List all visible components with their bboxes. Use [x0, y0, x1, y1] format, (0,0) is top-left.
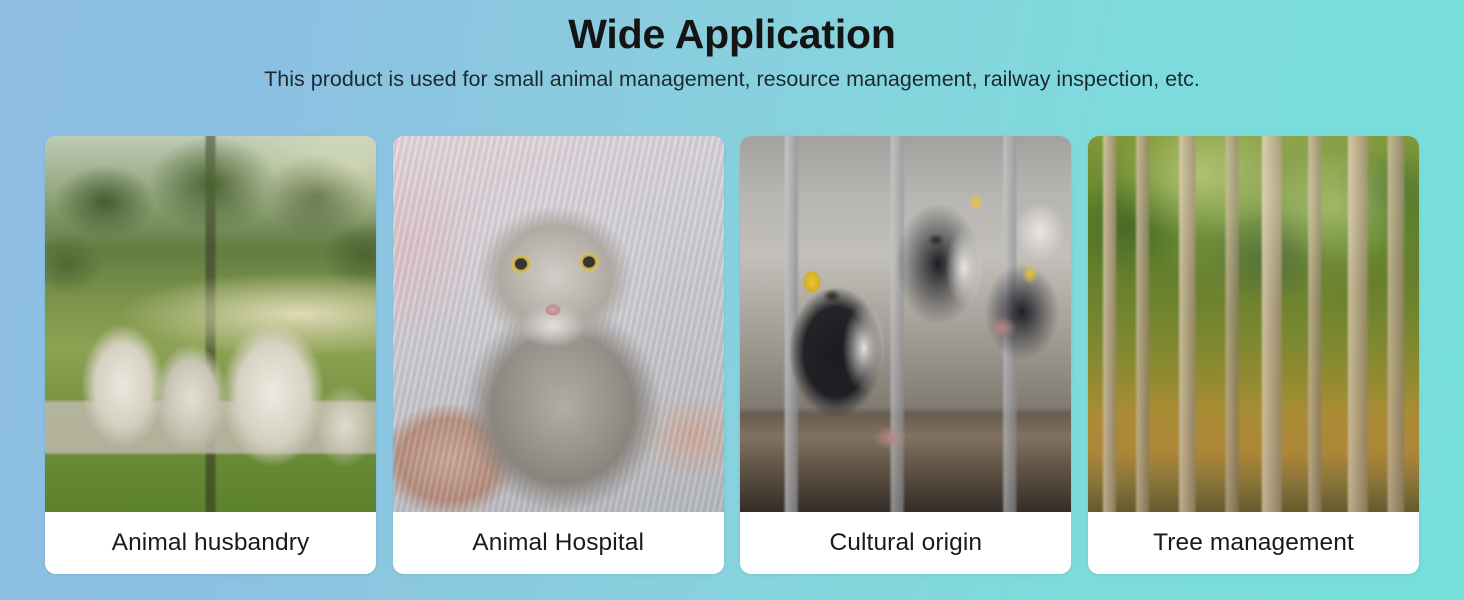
page-subtitle: This product is used for small animal ma… [0, 64, 1464, 94]
card-label-text: Tree management [1153, 529, 1354, 557]
card-label-text: Animal Hospital [472, 529, 644, 557]
card-label-animal-husbandry: Animal husbandry [45, 512, 376, 574]
application-card-grid: Animal husbandry Animal Hospital Cultura… [45, 136, 1419, 576]
conifer-forest-photo [1088, 136, 1419, 512]
application-card-cultural-origin[interactable]: Cultural origin [740, 136, 1071, 574]
card-label-cultural-origin: Cultural origin [740, 512, 1071, 574]
header-section: Wide Application This product is used fo… [0, 0, 1464, 94]
page-title: Wide Application [0, 7, 1464, 61]
application-card-animal-hospital[interactable]: Animal Hospital [393, 136, 724, 574]
card-label-text: Cultural origin [829, 529, 982, 557]
card-label-tree-management: Tree management [1088, 512, 1419, 574]
application-card-animal-husbandry[interactable]: Animal husbandry [45, 136, 376, 574]
cattle-pasture-photo [45, 136, 376, 512]
card-label-text: Animal husbandry [112, 529, 310, 557]
dairy-cows-barn-photo [740, 136, 1071, 512]
card-label-animal-hospital: Animal Hospital [393, 512, 724, 574]
application-card-tree-management[interactable]: Tree management [1088, 136, 1419, 574]
kitten-veterinary-photo [393, 136, 724, 512]
